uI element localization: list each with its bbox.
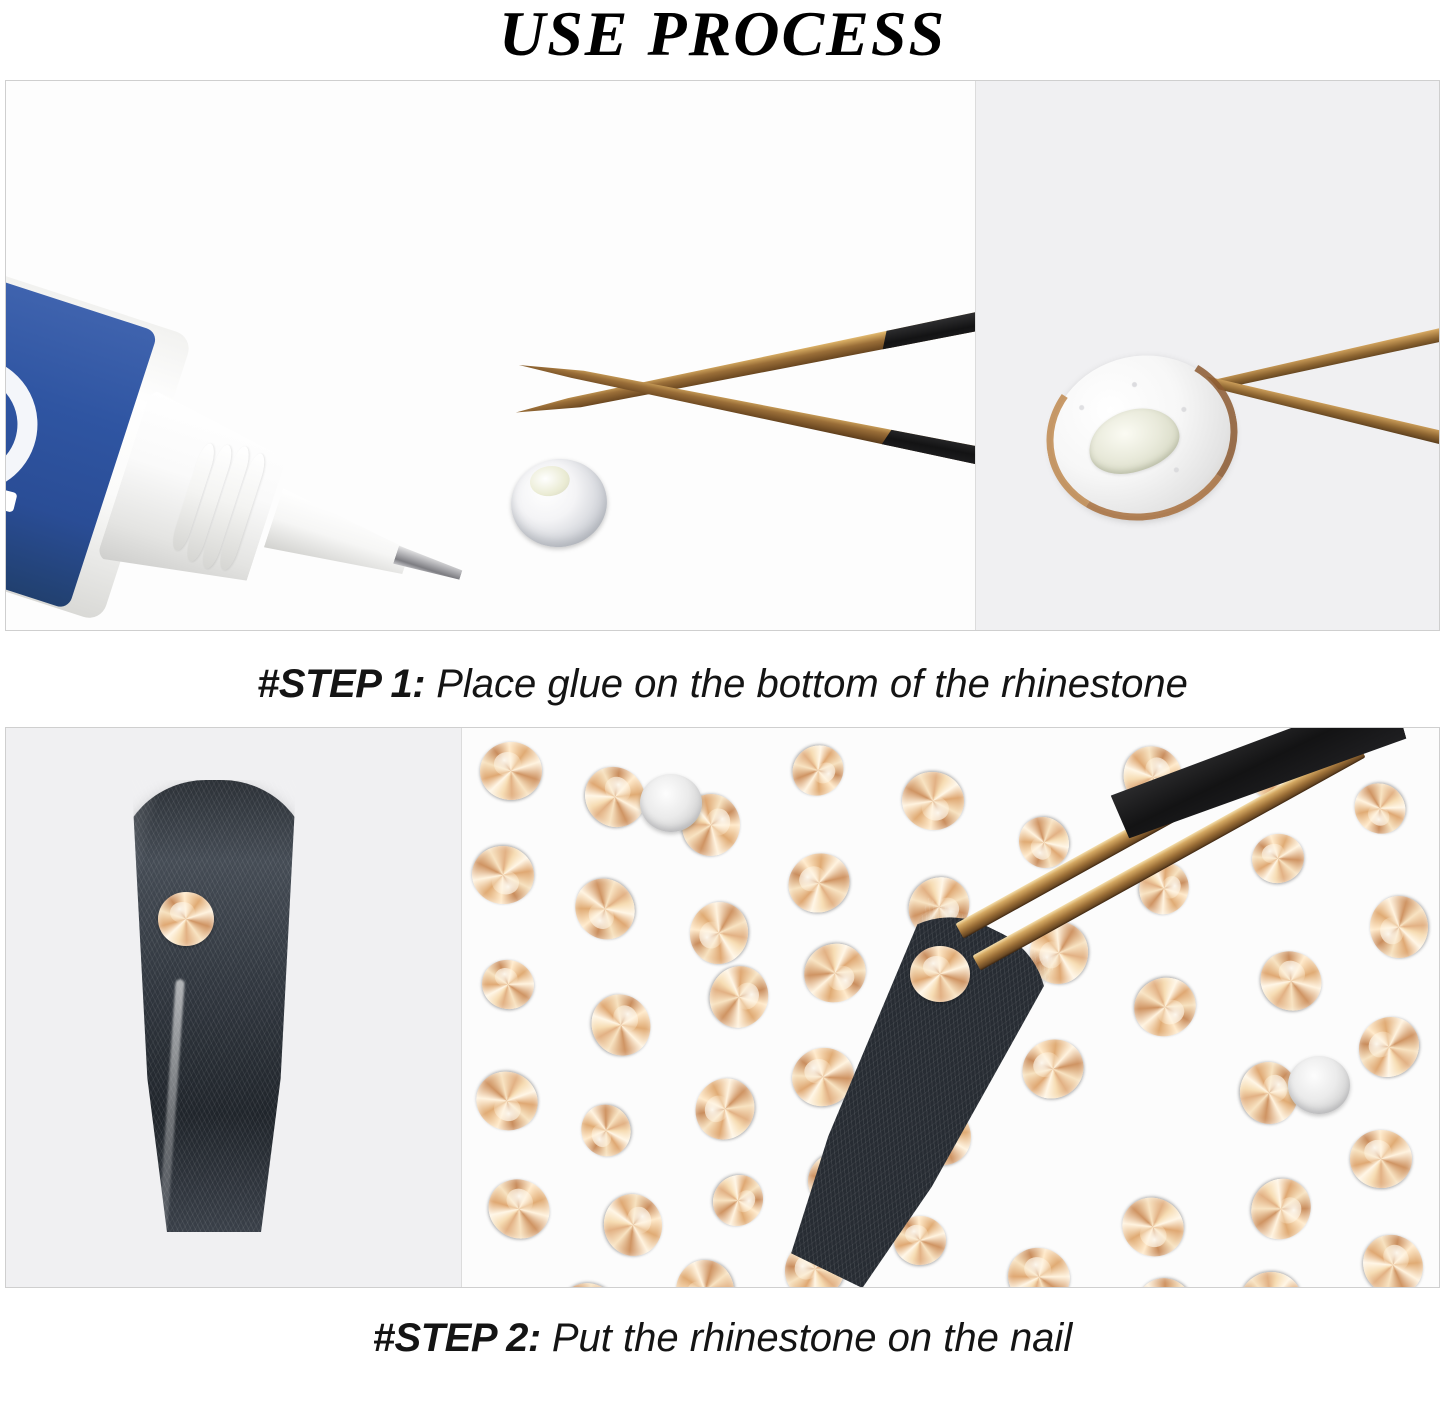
rhinestone [703,1165,773,1236]
step-2-caption: #STEP 2: Put the rhinestone on the nail [0,1288,1445,1358]
rhinestone [476,954,539,1015]
applied-rhinestone [158,892,214,946]
rhinestone [477,1168,560,1250]
rhinestone-in-tweezers [505,453,612,554]
rhinestone [574,1098,637,1163]
rhinestone [701,958,777,1036]
glue-bottle-tip [264,488,416,590]
rhinestone [898,768,968,835]
panel-finished-nail [6,728,461,1287]
rhinestone-flatback [640,774,702,832]
rhinestone [1012,1028,1095,1109]
step-1-caption: #STEP 1: Place glue on the bottom of the… [0,631,1445,727]
rhinestone-being-placed [910,946,970,1002]
panel-rhinestone-tray [461,728,1439,1287]
rhinestone [468,842,537,908]
step-1-key: #STEP 1: [257,662,425,706]
step-2-block: #STEP 2: Put the rhinestone on the nail [0,727,1445,1358]
rhinestone [1369,895,1429,959]
panel-glued-rhinestone [975,81,1439,630]
rhinestone [1113,1188,1194,1267]
step-1-text: Place glue on the bottom of the rhinesto… [425,662,1188,706]
rhinestone [777,842,860,924]
rhinestone-flatback [1288,1056,1350,1114]
rhinestone [685,1068,765,1150]
rhinestone [1247,828,1309,888]
rhinestone [1125,968,1204,1045]
rhinestone [563,867,646,951]
step-2-key: #STEP 2: [373,1316,541,1360]
rhinestone [782,735,853,806]
rhinestone [1237,1269,1305,1287]
rhinestone [1347,1005,1432,1090]
rhinestone [795,934,875,1012]
rhinestone-flatback [1036,339,1247,533]
rhinestone [684,897,754,970]
rhinestone [1349,1129,1413,1189]
page-title: USE PROCESS [0,0,1445,80]
rhinestone [547,1271,632,1287]
step-1-image-row [5,80,1440,631]
glue-bottle [6,257,479,630]
step-2-image-row [5,727,1440,1288]
rhinestone [581,984,661,1066]
rhinestone [480,742,542,800]
rhinestone [1239,1167,1323,1251]
panel-glue-applicator [6,81,975,630]
rhinestone [1001,1240,1077,1287]
glue-bottle-metal-nozzle [393,544,464,586]
rhinestone [1249,940,1333,1022]
rhinestone [1128,1271,1202,1287]
step-2-text: Put the rhinestone on the nail [541,1316,1072,1360]
rhinestone [1344,773,1415,844]
press-on-nail [116,780,312,1232]
rhinestone [1351,1223,1435,1287]
step-1-block: #STEP 1: Place glue on the bottom of the… [0,80,1445,727]
rhinestone [467,1062,547,1140]
rhinestone [674,1259,735,1287]
rhinestone [599,1189,668,1261]
